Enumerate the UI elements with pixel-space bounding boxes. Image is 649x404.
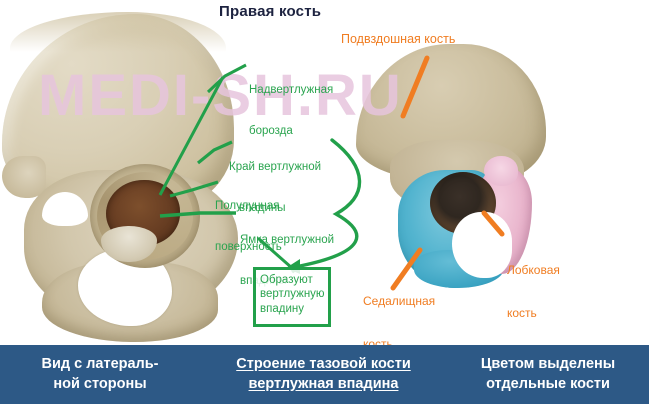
- label-line-1: Лобковая: [507, 263, 560, 277]
- figure-canvas: MEDI-SH.RU Правая кость Надвертлужная бо…: [0, 0, 649, 404]
- footer-right-line-2: отдельные кости: [447, 375, 649, 395]
- label-line-2: кость: [507, 306, 560, 320]
- label-pubis: Лобковая кость: [507, 235, 560, 348]
- label-line-1: Надвертлужная: [249, 84, 333, 98]
- footer-caption-center: Строение тазовой кости вертлужная впадин…: [200, 355, 447, 394]
- callout-line-1: Образуют: [260, 273, 328, 287]
- callout-box-forms-acetabulum: Образуют вертлужную впадину: [253, 267, 331, 327]
- callout-line-3: впадину: [260, 302, 328, 316]
- callout-line-2: вертлужную: [260, 287, 328, 301]
- footer-caption-left: Вид с латераль- ной стороны: [0, 355, 200, 394]
- annotation-labels-layer: Надвертлужная борозда Край вертлужной вп…: [0, 0, 649, 404]
- footer-caption-bar: Вид с латераль- ной стороны Строение таз…: [0, 345, 649, 404]
- footer-center-line-1: Строение тазовой кости: [200, 355, 447, 375]
- footer-left-line-2: ной стороны: [0, 375, 200, 395]
- footer-left-line-1: Вид с латераль-: [0, 355, 200, 375]
- page-title: Правая кость: [219, 3, 321, 20]
- footer-center-line-2: вертлужная впадина: [200, 375, 447, 395]
- footer-right-line-1: Цветом выделены: [447, 355, 649, 375]
- label-line-1: Седалищная: [363, 294, 435, 308]
- footer-caption-right: Цветом выделены отдельные кости: [447, 355, 649, 394]
- label-ilium: Подвздошная кость: [341, 32, 455, 47]
- label-line-1: Ямка вертлужной: [240, 234, 334, 248]
